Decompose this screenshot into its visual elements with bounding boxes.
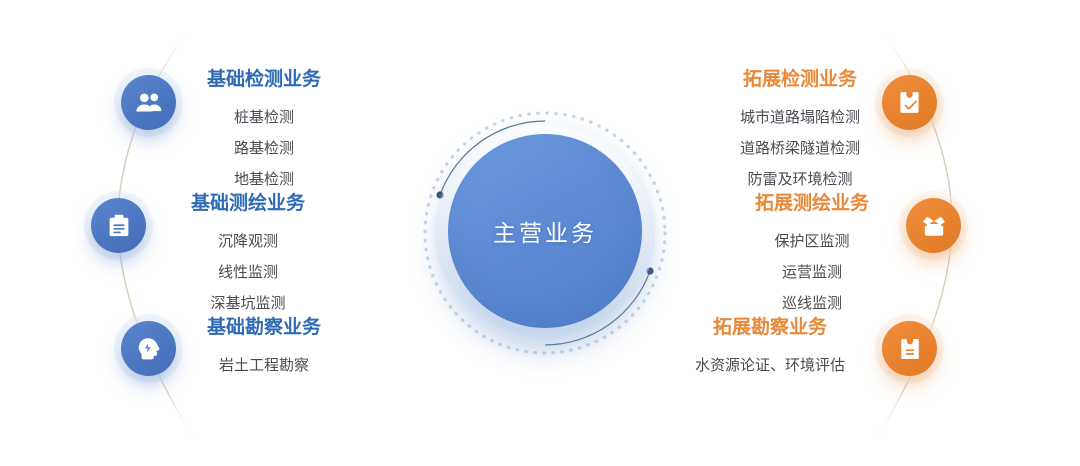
- open-box-icon[interactable]: [906, 198, 961, 253]
- users-icon[interactable]: [121, 75, 176, 130]
- group-left-3-text: 基础勘察业务 岩土工程勘察: [180, 318, 348, 373]
- group-left-1-item-0: 桩基检测: [180, 110, 348, 125]
- center-label: 主营业务: [493, 214, 597, 248]
- package-icon[interactable]: [882, 321, 937, 376]
- group-left-1-title: 基础检测业务: [180, 70, 348, 90]
- group-left-3-title: 基础勘察业务: [180, 318, 348, 338]
- group-right-2-item-1: 运营监测: [736, 265, 888, 280]
- group-right-1-title: 拓展检测业务: [724, 70, 876, 90]
- group-right-1-text: 拓展检测业务 城市道路塌陷检测 道路桥梁隧道检测 防雷及环境检测: [724, 70, 876, 187]
- group-right-1-item-1: 道路桥梁隧道检测: [724, 141, 876, 156]
- group-right-2-title: 拓展测绘业务: [736, 194, 888, 214]
- group-right-3-item-0: 水资源论证、环境评估: [664, 358, 876, 373]
- infographic-canvas: 主营业务 基础检测业务 桩基检测 路基检测 地基检测: [0, 0, 1080, 466]
- group-left-1-item-2: 地基检测: [180, 172, 348, 187]
- group-right-2-text: 拓展测绘业务 保护区监测 运营监测 巡线监测: [736, 194, 888, 311]
- group-left-1-item-1: 路基检测: [180, 141, 348, 156]
- box-check-icon[interactable]: [882, 75, 937, 130]
- group-left-3-item-0: 岩土工程勘察: [180, 358, 348, 373]
- center-hub: 主营业务: [415, 103, 675, 363]
- group-left-2-item-1: 线性监测: [160, 265, 336, 280]
- group-right-3-text: 拓展勘察业务 水资源论证、环境评估: [664, 318, 876, 373]
- group-right-2-item-2: 巡线监测: [736, 296, 888, 311]
- group-left-1-text: 基础检测业务 桩基检测 路基检测 地基检测: [180, 70, 348, 187]
- clipboard-icon[interactable]: [91, 198, 146, 253]
- group-right-2-item-0: 保护区监测: [736, 234, 888, 249]
- group-left-2-item-0: 沉降观测: [160, 234, 336, 249]
- group-left-2-title: 基础测绘业务: [160, 194, 336, 214]
- center-circle: 主营业务: [448, 134, 642, 328]
- group-right-1-item-2: 防雷及环境检测: [724, 172, 876, 187]
- brain-head-icon[interactable]: [121, 321, 176, 376]
- group-right-3-title: 拓展勘察业务: [664, 318, 876, 338]
- group-left-2-item-2: 深基坑监测: [160, 296, 336, 311]
- group-left-2-text: 基础测绘业务 沉降观测 线性监测 深基坑监测: [160, 194, 336, 311]
- group-right-1-item-0: 城市道路塌陷检测: [724, 110, 876, 125]
